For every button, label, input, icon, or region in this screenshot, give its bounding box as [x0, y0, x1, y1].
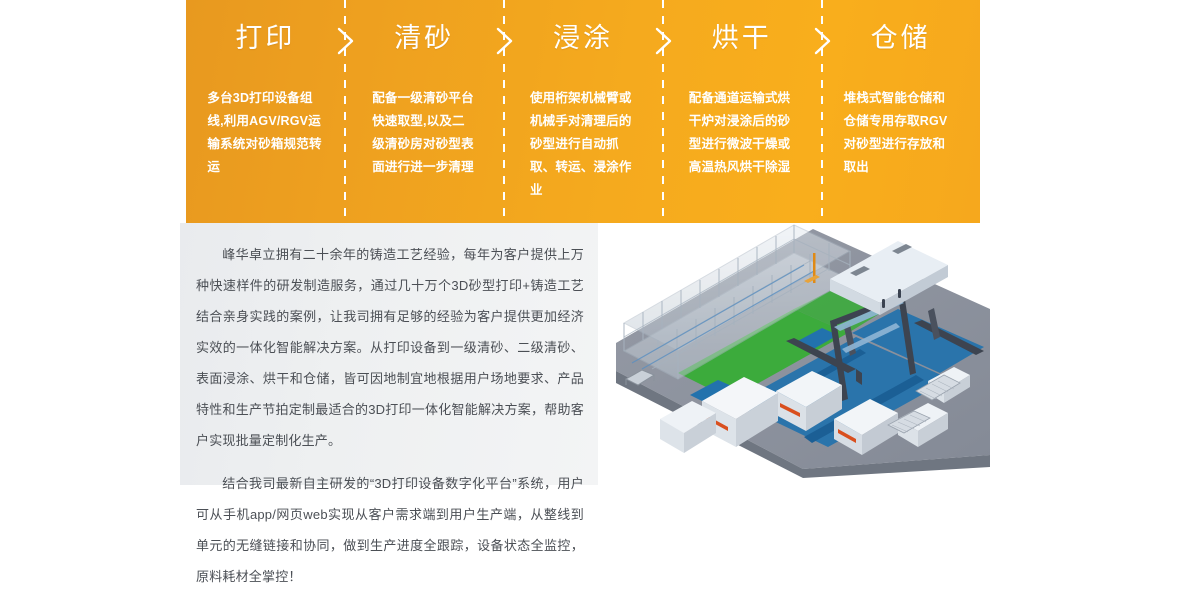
process-step-title: 浸涂: [553, 16, 613, 60]
chevron-right-icon: [332, 26, 358, 56]
process-step-description: 堆栈式智能仓储和仓储专用存取RGV对砂型进行存放和取出: [844, 87, 958, 179]
process-step-2[interactable]: 清砂 配备一级清砂平台快速取型,以及二级清砂房对砂型表面进行进一步清理: [345, 0, 504, 223]
process-step-description: 配备通道运输式烘干炉对浸涂后的砂型进行微波干燥或高温热风烘干除湿: [689, 87, 795, 179]
process-step-1[interactable]: 打印 多台3D打印设备组线,利用AGV/RGV运输系统对砂箱规范转运: [186, 0, 345, 223]
process-step-title: 仓储: [871, 16, 931, 60]
chevron-right-icon: [491, 26, 517, 56]
page-root: 打印 多台3D打印设备组线,利用AGV/RGV运输系统对砂箱规范转运 清砂 配备…: [0, 0, 1190, 494]
chevron-right-icon: [809, 26, 835, 56]
process-step-title: 打印: [235, 16, 295, 60]
paragraph-text: 结合我司最新自主研发的“3D打印设备数字化平台”系统，用户可从手机app/网页w…: [196, 476, 584, 584]
process-step-5[interactable]: 仓储 堆栈式智能仓储和仓储专用存取RGV对砂型进行存放和取出: [821, 0, 980, 223]
process-step-list: 打印 多台3D打印设备组线,利用AGV/RGV运输系统对砂箱规范转运 清砂 配备…: [186, 0, 980, 223]
process-banner: 打印 多台3D打印设备组线,利用AGV/RGV运输系统对砂箱规范转运 清砂 配备…: [186, 0, 980, 223]
description-text-column: 峰华卓立拥有二十余年的铸造工艺经验，每年为客户提供上万种快速样件的研发制造服务，…: [180, 223, 598, 485]
process-step-title: 烘干: [712, 16, 772, 60]
process-step-description: 使用桁架机械臂或机械手对清理后的砂型进行自动抓取、转运、浸涂作业: [530, 87, 636, 202]
chevron-right-icon: [650, 26, 676, 56]
factory-3d-render: [598, 223, 990, 478]
process-step-4[interactable]: 烘干 配备通道运输式烘干炉对浸涂后的砂型进行微波干燥或高温热风烘干除湿: [662, 0, 821, 223]
process-step-description: 多台3D打印设备组线,利用AGV/RGV运输系统对砂箱规范转运: [207, 87, 323, 179]
description-paragraph-2: 结合我司最新自主研发的“3D打印设备数字化平台”系统，用户可从手机app/网页w…: [196, 468, 584, 592]
process-step-3[interactable]: 浸涂 使用桁架机械臂或机械手对清理后的砂型进行自动抓取、转运、浸涂作业: [504, 0, 663, 223]
process-step-description: 配备一级清砂平台快速取型,以及二级清砂房对砂型表面进行进一步清理: [372, 87, 476, 179]
description-paragraph-1: 峰华卓立拥有二十余年的铸造工艺经验，每年为客户提供上万种快速样件的研发制造服务，…: [196, 239, 584, 456]
paragraph-text: 峰华卓立拥有二十余年的铸造工艺经验，每年为客户提供上万种快速样件的研发制造服务，…: [196, 247, 584, 448]
process-step-title: 清砂: [394, 16, 454, 60]
